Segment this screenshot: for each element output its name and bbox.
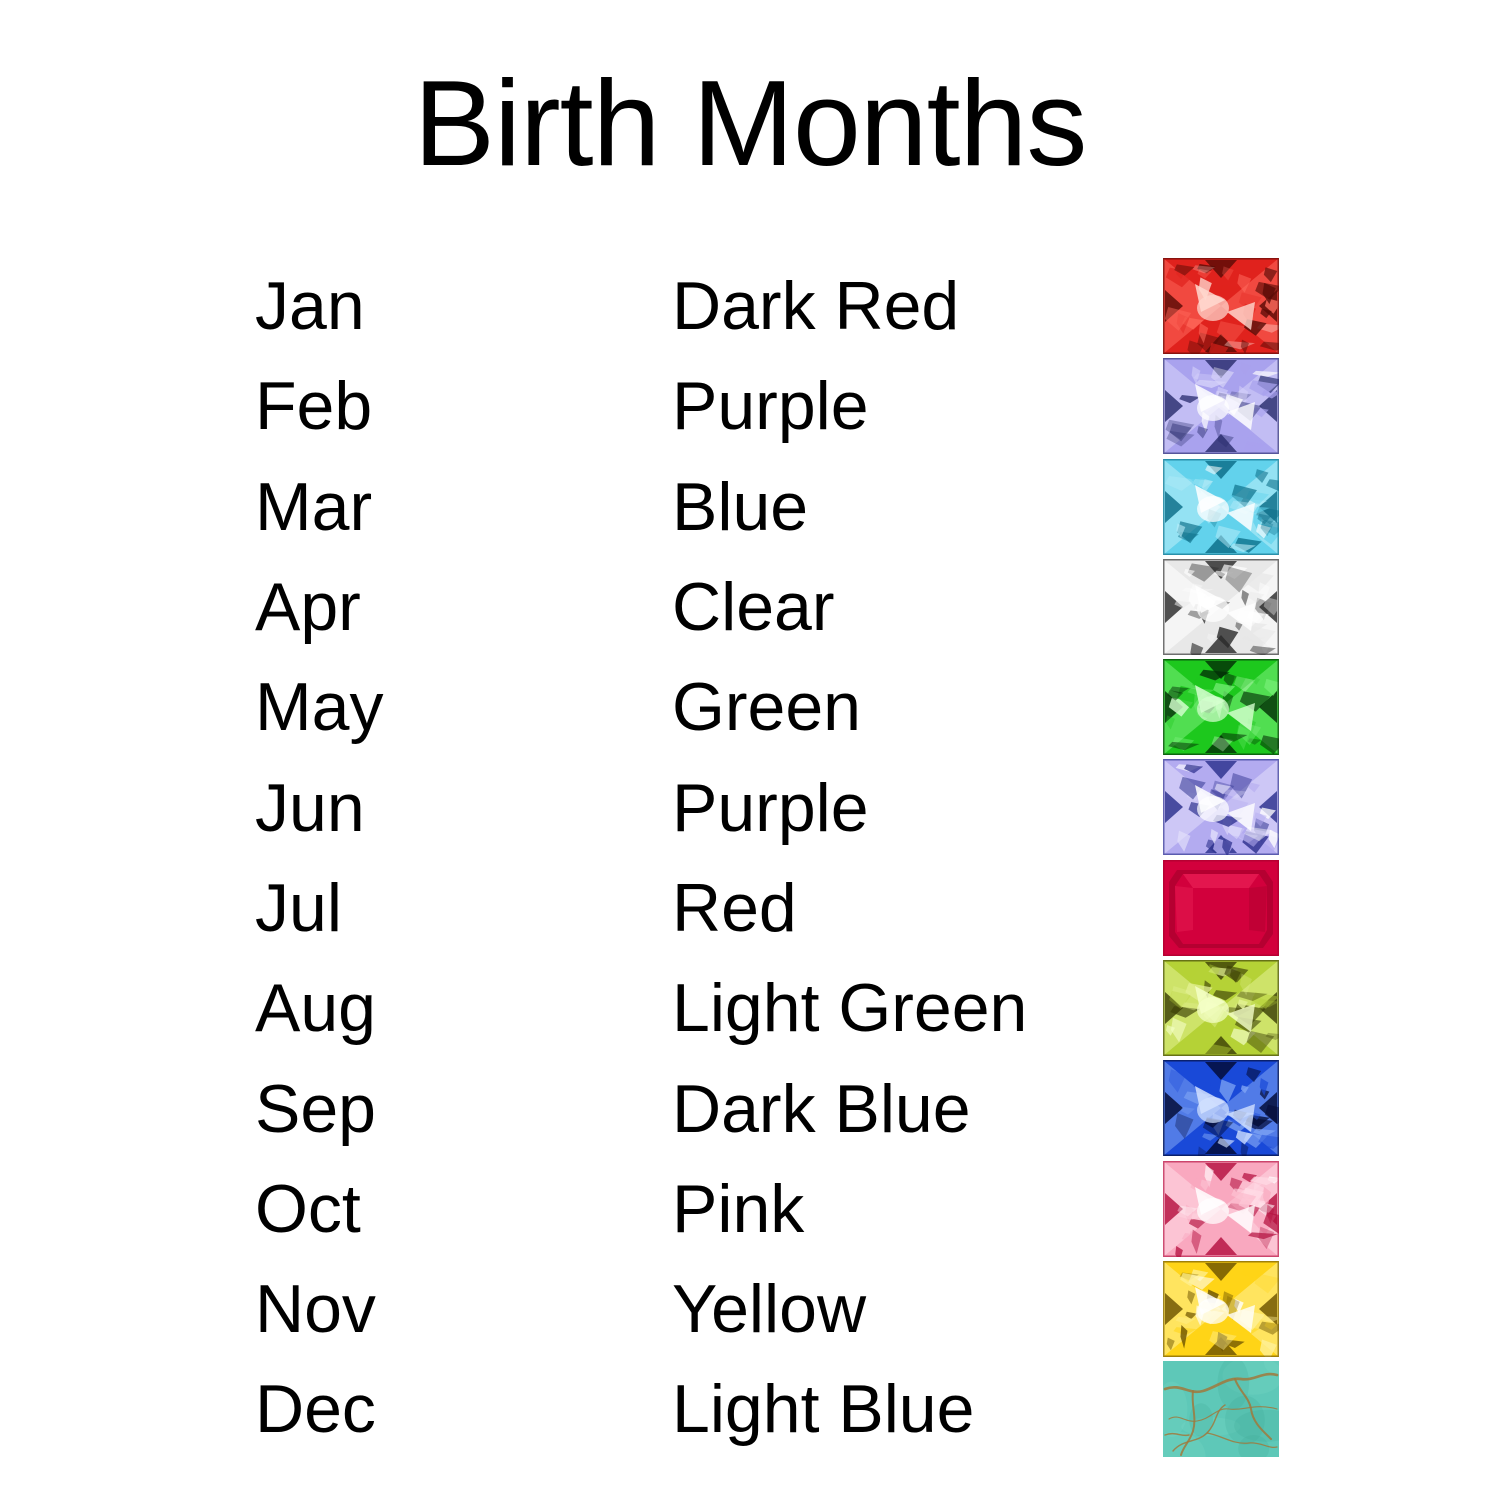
table-row: SepDark Blue — [0, 1058, 1500, 1158]
table-row: JulRed — [0, 858, 1500, 958]
table-row: NovYellow — [0, 1259, 1500, 1359]
table-row: JanDark Red — [0, 256, 1500, 356]
table-row: MarBlue — [0, 457, 1500, 557]
sapphire-gem-icon — [1163, 1060, 1279, 1156]
color-name-label: Dark Red — [672, 256, 959, 356]
table-row: JunPurple — [0, 757, 1500, 857]
table-row: OctPink — [0, 1159, 1500, 1259]
table-row: MayGreen — [0, 657, 1500, 757]
color-name-label: Purple — [672, 356, 869, 456]
table-row: DecLight Blue — [0, 1359, 1500, 1459]
month-label: Jun — [255, 757, 365, 857]
month-label: Jul — [255, 858, 342, 958]
birth-months-page: Birth Months JanDark RedFebPurpleMarBlue… — [0, 0, 1500, 1500]
month-label: Oct — [255, 1159, 361, 1259]
color-name-label: Clear — [672, 557, 835, 657]
month-label: Feb — [255, 356, 372, 456]
color-name-label: Pink — [672, 1159, 804, 1259]
citrine-gem-icon — [1163, 1261, 1279, 1357]
color-name-label: Red — [672, 858, 797, 958]
month-label: Jan — [255, 256, 365, 356]
turquoise-gem-icon — [1163, 1361, 1279, 1457]
peridot-gem-icon — [1163, 960, 1279, 1056]
color-name-label: Purple — [672, 757, 869, 857]
month-label: Nov — [255, 1259, 376, 1359]
color-name-label: Blue — [672, 457, 808, 557]
month-label: Aug — [255, 958, 376, 1058]
table-row: FebPurple — [0, 356, 1500, 456]
month-label: May — [255, 657, 383, 757]
garnet-gem-icon — [1163, 258, 1279, 354]
amethyst-gem-icon — [1163, 358, 1279, 454]
alexandrite-gem-icon — [1163, 759, 1279, 855]
color-name-label: Green — [672, 657, 861, 757]
month-label: Dec — [255, 1359, 376, 1459]
color-name-label: Light Green — [672, 958, 1027, 1058]
color-name-label: Light Blue — [672, 1359, 974, 1459]
ruby-gem-icon — [1163, 860, 1279, 956]
tourmaline-gem-icon — [1163, 1161, 1279, 1257]
table-row: AugLight Green — [0, 958, 1500, 1058]
birth-months-table: JanDark RedFebPurpleMarBlueAprClearMayGr… — [0, 256, 1500, 1460]
month-label: Sep — [255, 1058, 376, 1158]
month-label: Apr — [255, 557, 361, 657]
table-row: AprClear — [0, 557, 1500, 657]
aquamarine-gem-icon — [1163, 459, 1279, 555]
month-label: Mar — [255, 457, 372, 557]
color-name-label: Yellow — [672, 1259, 866, 1359]
color-name-label: Dark Blue — [672, 1058, 971, 1158]
page-title: Birth Months — [0, 62, 1500, 184]
emerald-gem-icon — [1163, 659, 1279, 755]
diamond-gem-icon — [1163, 559, 1279, 655]
